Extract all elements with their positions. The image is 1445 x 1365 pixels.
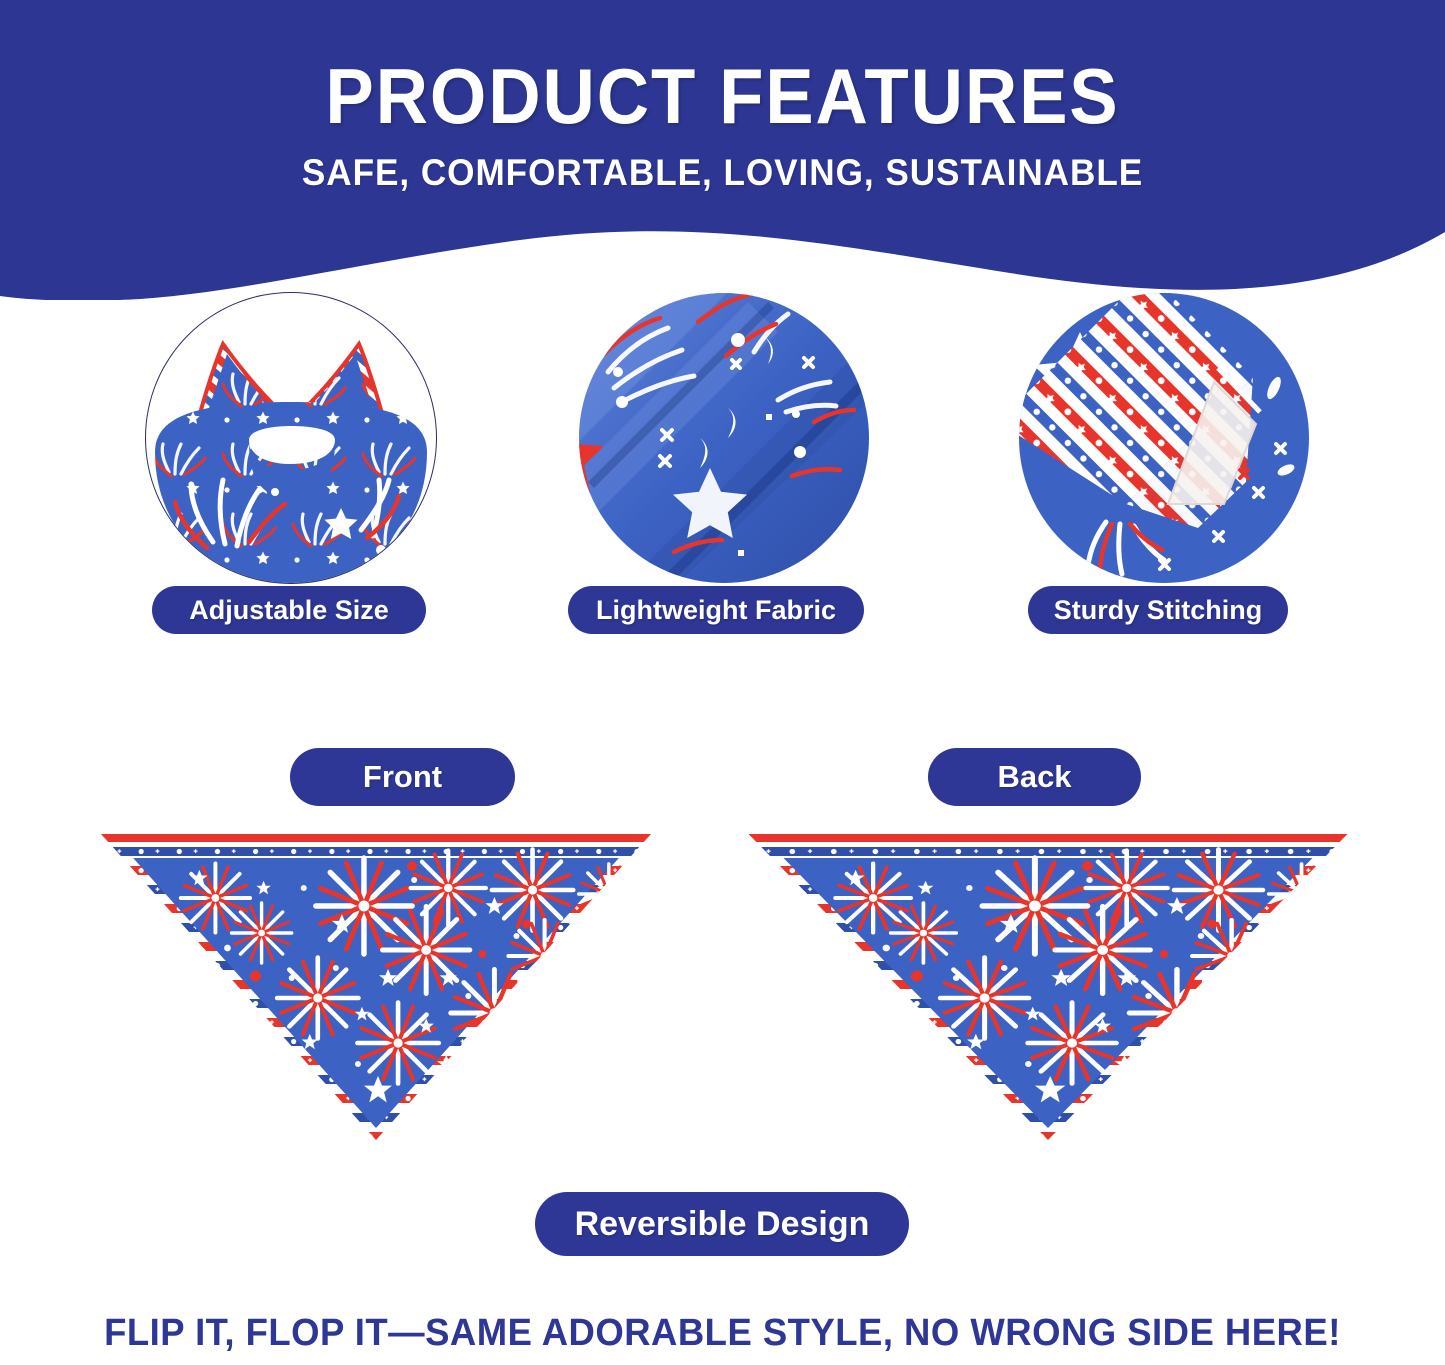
header-band xyxy=(0,0,1445,300)
bandana-front-image xyxy=(95,828,657,1148)
side-label-front: Front xyxy=(290,748,515,806)
bandana-back-image xyxy=(742,828,1354,1148)
feature-label-lightweight-fabric: Lightweight Fabric xyxy=(568,586,864,634)
bandana-tied-with-ears-illustration xyxy=(145,292,437,584)
reversible-design-label: Reversible Design xyxy=(535,1192,909,1256)
feature-card-lightweight-fabric xyxy=(578,292,870,584)
folded-fabric-closeup-illustration xyxy=(578,292,870,584)
header-wave-shape xyxy=(0,0,1445,300)
bottom-tagline: FLIP IT, FLOP IT—SAME ADORABLE STYLE, NO… xyxy=(29,1310,1416,1356)
page-title: PRODUCT FEATURES xyxy=(51,56,1395,136)
triangle-bandana-back xyxy=(742,828,1354,1148)
feature-card-adjustable-size xyxy=(145,292,437,584)
stitched-folded-corner-illustration xyxy=(1018,292,1310,584)
feature-image-sturdy-stitching xyxy=(1018,292,1310,584)
side-label-back: Back xyxy=(928,748,1141,806)
feature-card-sturdy-stitching xyxy=(1018,292,1310,584)
feature-image-lightweight-fabric xyxy=(578,292,870,584)
feature-label-sturdy-stitching: Sturdy Stitching xyxy=(1028,586,1288,634)
page-subtitle: SAFE, COMFORTABLE, LOVING, SUSTAINABLE xyxy=(36,152,1409,194)
feature-image-adjustable-size xyxy=(145,292,437,584)
triangle-bandana-front xyxy=(95,828,657,1148)
feature-label-adjustable-size: Adjustable Size xyxy=(152,586,426,634)
